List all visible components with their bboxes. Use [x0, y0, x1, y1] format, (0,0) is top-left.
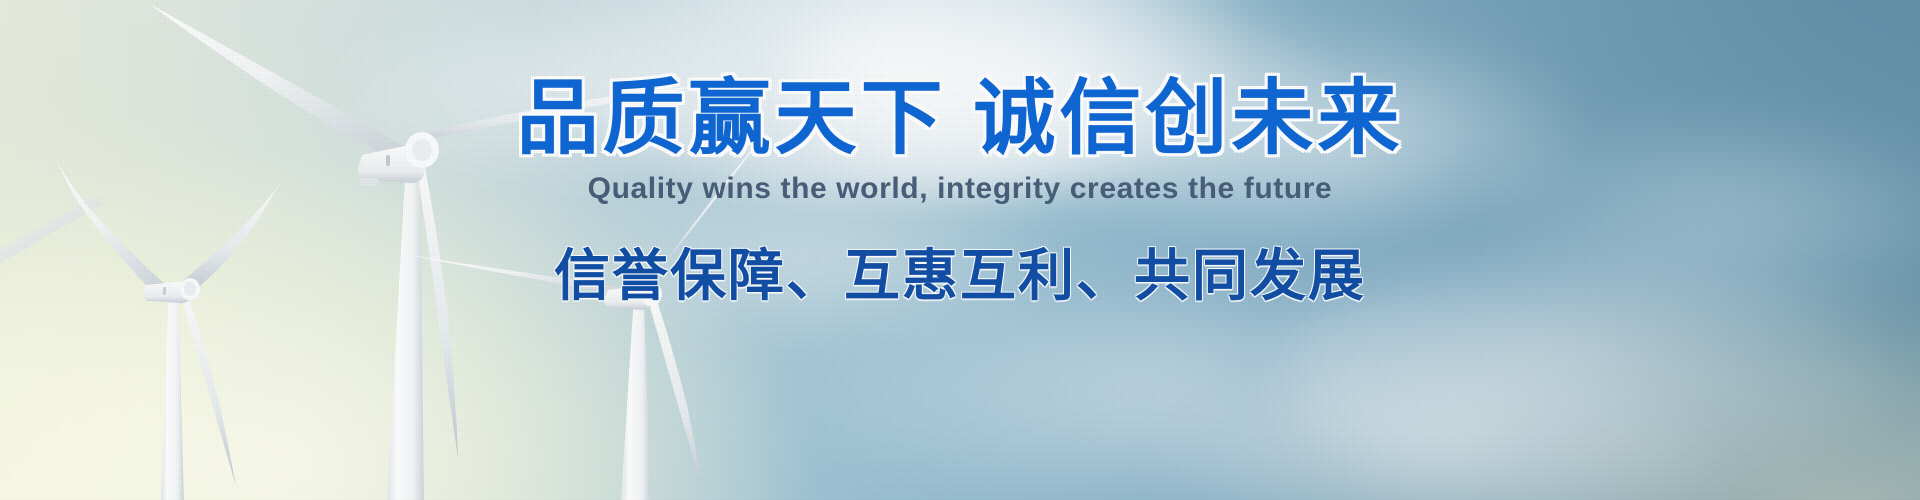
- promo-banner: 品质赢天下 诚信创未来 Quality wins the world, inte…: [0, 0, 1920, 500]
- banner-tagline: 信誉保障、互惠互利、共同发展: [0, 248, 1920, 304]
- banner-headline: 品质赢天下 诚信创未来: [0, 78, 1920, 160]
- banner-subtitle-english: Quality wins the world, integrity create…: [0, 172, 1920, 205]
